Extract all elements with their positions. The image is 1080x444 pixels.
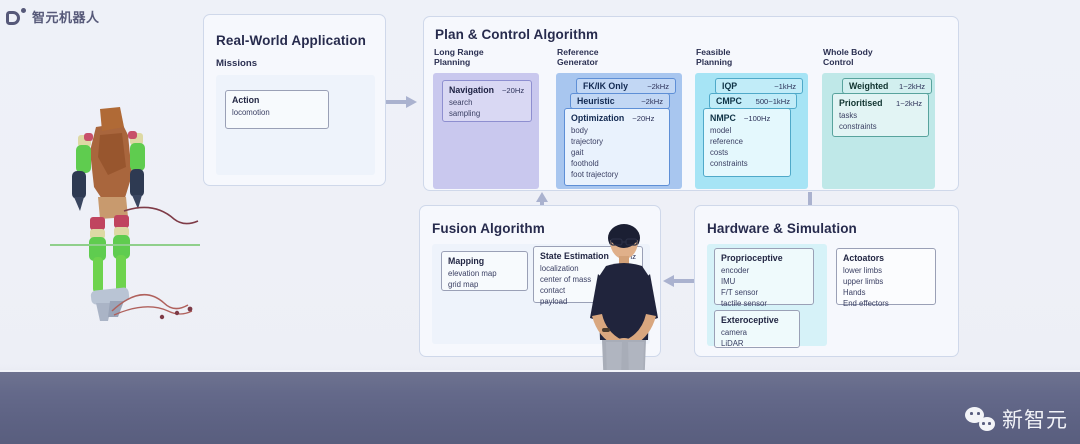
column-label-whole-body: Whole Body Control <box>823 47 873 67</box>
robot-svg <box>50 105 200 345</box>
card-action-items: locomotion <box>232 107 322 118</box>
card-actoators[interactable]: Actoators lower limbs upper limbs Hands … <box>836 248 936 305</box>
card-prioritised-name: Prioritised <box>839 98 883 108</box>
card-mapping-items: elevation map grid map <box>448 268 521 290</box>
card-navigation-hz: ~20Hz <box>502 86 524 95</box>
card-optimization-name: Optimization <box>571 113 624 123</box>
card-weighted-name: Weighted <box>849 81 888 91</box>
card-prioritised[interactable]: Prioritised 1~2kHz tasks constraints <box>832 93 929 137</box>
card-exteroceptive-name: Exteroceptive <box>721 315 779 325</box>
card-heuristic-name: Heuristic <box>577 96 615 106</box>
panel-title-fusion: Fusion Algorithm <box>432 221 545 236</box>
card-navigation-name: Navigation <box>449 85 494 95</box>
card-mapping[interactable]: Mapping elevation map grid map <box>441 251 528 291</box>
card-exteroceptive-items: camera LiDAR <box>721 327 793 349</box>
card-fk-ik-hz: ~2kHz <box>647 82 669 91</box>
aoshi-d-logo-icon <box>6 8 26 26</box>
column-label-long-range: Long Range Planning <box>434 47 484 67</box>
arrow-realworld-to-plan <box>386 96 419 108</box>
card-prioritised-hz: 1~2kHz <box>896 99 922 108</box>
card-iqp[interactable]: IQP ~1kHz <box>715 78 803 94</box>
card-proprioceptive-items: encoder IMU F/T sensor tactile sensor <box>721 265 807 309</box>
wechat-watermark: 新智元 <box>965 404 1068 434</box>
card-nmpc[interactable]: NMPC ~100Hz model reference costs constr… <box>703 108 791 177</box>
panel-title-hardware: Hardware & Simulation <box>707 221 857 236</box>
card-optimization-items: body trajectory gait foothold foot traje… <box>571 125 663 180</box>
ground-plane-line <box>50 244 200 246</box>
card-nmpc-items: model reference costs constraints <box>710 125 784 169</box>
card-fk-ik-only[interactable]: FK/IK Only ~2kHz <box>576 78 676 94</box>
card-navigation[interactable]: Navigation ~20Hz search sampling <box>442 80 532 122</box>
card-action-name: Action <box>232 95 259 105</box>
card-cmpc-hz: 500~1kHz <box>756 97 790 106</box>
presentation-slide-scene: 智元机器人 <box>0 0 1080 444</box>
card-iqp-name: IQP <box>722 81 737 91</box>
card-mapping-name: Mapping <box>448 256 484 266</box>
panel-real-world-application: Real-World Application Missions Action l… <box>203 14 386 186</box>
card-navigation-items: search sampling <box>449 97 525 119</box>
panel-hardware-simulation: Hardware & Simulation Proprioceptive enc… <box>694 205 959 357</box>
panel-title-real-world: Real-World Application <box>216 33 366 48</box>
card-prioritised-items: tasks constraints <box>839 110 922 132</box>
card-fk-ik-name: FK/IK Only <box>583 81 628 91</box>
watermark-text: 新智元 <box>1002 404 1068 434</box>
card-nmpc-name: NMPC <box>710 113 736 123</box>
card-actoators-name: Actoators <box>843 253 884 263</box>
humanoid-robot-illustration <box>50 105 200 345</box>
card-proprioceptive[interactable]: Proprioceptive encoder IMU F/T sensor ta… <box>714 248 814 305</box>
card-weighted[interactable]: Weighted 1~2kHz <box>842 78 932 94</box>
column-label-reference: Reference Generator <box>557 47 599 67</box>
panel-plan-control-algorithm: Plan & Control Algorithm Long Range Plan… <box>423 16 959 191</box>
card-action[interactable]: Action locomotion <box>225 90 329 129</box>
panel-title-plan-control: Plan & Control Algorithm <box>435 27 598 42</box>
stage-floor <box>0 372 1080 444</box>
card-heuristic-hz: ~2kHz <box>641 97 663 106</box>
column-label-feasible: Feasible Planning <box>696 47 732 67</box>
card-actoators-items: lower limbs upper limbs Hands End effect… <box>843 265 929 309</box>
card-cmpc-name: CMPC <box>716 96 742 106</box>
card-proprioceptive-name: Proprioceptive <box>721 253 783 263</box>
card-cmpc[interactable]: CMPC 500~1kHz <box>709 93 797 109</box>
brand-logo: 智元机器人 <box>6 7 100 26</box>
card-nmpc-hz: ~100Hz <box>744 114 770 123</box>
wechat-icon <box>965 407 995 431</box>
real-world-subtitle: Missions <box>216 58 257 69</box>
card-optimization[interactable]: Optimization ~20Hz body trajectory gait … <box>564 108 670 186</box>
card-weighted-hz: 1~2kHz <box>899 82 925 91</box>
card-iqp-hz: ~1kHz <box>774 82 796 91</box>
brand-name: 智元机器人 <box>32 7 100 26</box>
card-exteroceptive[interactable]: Exteroceptive camera LiDAR <box>714 310 800 348</box>
card-optimization-hz: ~20Hz <box>632 114 654 123</box>
card-heuristic[interactable]: Heuristic ~2kHz <box>570 93 670 109</box>
